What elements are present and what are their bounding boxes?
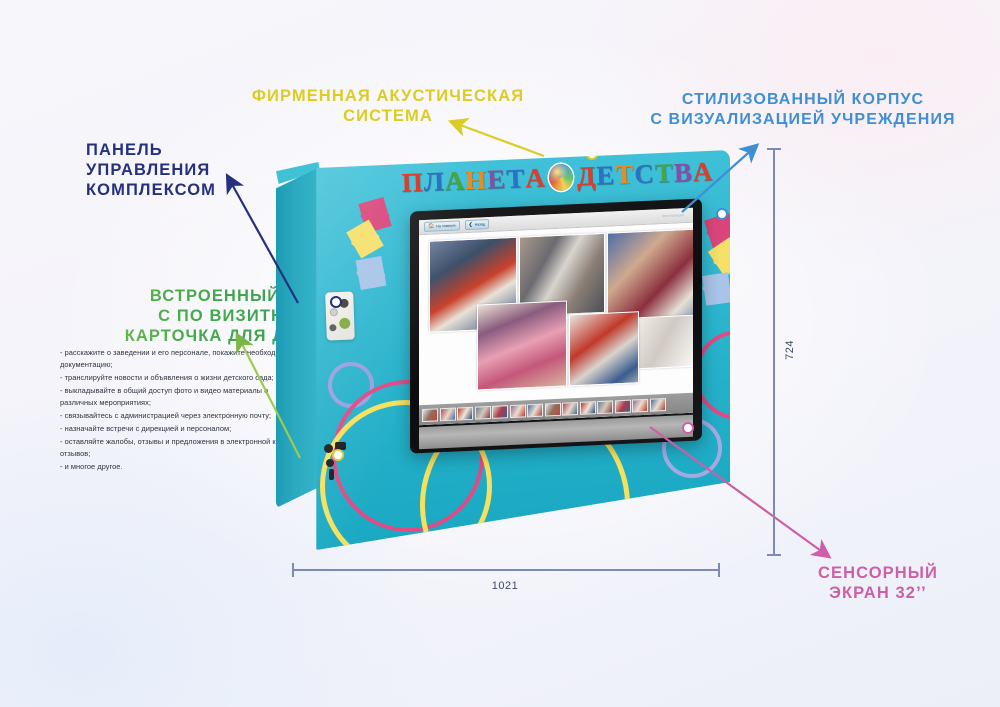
back-button[interactable]: ❮ Назад — [465, 219, 490, 230]
kiosk-illustration: 🏠 На главную ❮ Назад Фотогалерея — [270, 150, 740, 570]
decor-ring-yellow — [320, 400, 492, 550]
filmstrip-thumbnail[interactable] — [527, 403, 543, 417]
title-letter-detstva-6: А — [692, 158, 712, 186]
gallery-photo[interactable] — [429, 237, 517, 333]
back-button-label: Назад — [475, 222, 485, 226]
anchor-dot-pc — [332, 449, 344, 461]
filmstrip-thumbnail[interactable] — [457, 406, 473, 420]
chevron-left-icon: ❮ — [469, 222, 473, 227]
gallery-photo[interactable] — [519, 233, 605, 317]
globe-icon — [548, 163, 573, 191]
title-letter-detstva-3: С — [634, 160, 654, 188]
app-toolbar: 🏠 На главную ❮ Назад Фотогалерея — [419, 208, 693, 235]
control-knob-small[interactable] — [329, 324, 336, 331]
dimension-line-horizontal — [292, 569, 720, 571]
dimension-cap — [767, 554, 781, 556]
title-letter-detstva-4: Т — [654, 160, 673, 188]
dimension-cap — [718, 563, 720, 577]
dimension-label-width: 1021 — [460, 580, 550, 592]
dimension-label-height: 724 — [784, 340, 796, 360]
description-line: - транслируйте новости и объявления о жи… — [60, 372, 300, 384]
title-letter-planeta-2: А — [444, 167, 464, 195]
callout-label-touch-screen: СЕНСОРНЫЙ ЭКРАН 32’’ — [778, 563, 978, 603]
touch-screen-bezel: 🏠 На главную ❮ Назад Фотогалерея — [410, 198, 702, 453]
handprint-blue-left — [356, 256, 387, 290]
title-letter-planeta-0: П — [401, 169, 423, 197]
description-line: - связывайтесь с администрацией через эл… — [60, 410, 300, 422]
home-button-label: На главную — [436, 224, 455, 229]
decor-ring-pink-right — [694, 330, 730, 420]
filmstrip-thumbnail[interactable] — [615, 399, 631, 413]
handprint-yellow-right — [708, 237, 730, 276]
filmstrip-thumbnail[interactable] — [510, 404, 526, 418]
filmstrip-thumbnail[interactable] — [422, 408, 438, 422]
anchor-dot-acoustic — [586, 150, 598, 160]
filmstrip-thumbnail[interactable] — [562, 402, 578, 416]
decor-ring-yellow-wide — [420, 400, 630, 550]
filmstrip-thumbnail[interactable] — [475, 405, 491, 419]
filmstrip-thumbnail[interactable] — [440, 407, 456, 421]
decor-ring-pink — [332, 380, 484, 532]
title-letter-planeta-5: Т — [506, 165, 525, 193]
filmstrip-thumbnail[interactable] — [632, 398, 648, 412]
lock-and-port-area[interactable] — [322, 442, 352, 482]
thumbnail-filmstrip[interactable] — [419, 393, 693, 425]
photo-gallery-grid[interactable] — [419, 223, 693, 425]
callout-label-stylized-body: СТИЛИЗОВАННЫЙ КОРПУС С ВИЗУАЛИЗАЦИЕЙ УЧР… — [608, 90, 998, 129]
title-letter-detstva-0: Д — [576, 163, 596, 191]
feature-description-list: - расскажите о заведении и его персонале… — [60, 347, 300, 474]
screen-stand-base — [419, 415, 693, 449]
title-letter-planeta-1: Л — [423, 168, 444, 196]
home-button[interactable]: 🏠 На главную — [424, 220, 460, 232]
anchor-dot-touch — [682, 422, 694, 434]
decor-ring-violet — [328, 362, 374, 408]
gallery-photo[interactable] — [635, 314, 693, 369]
kiosk-front-panel: 🏠 На главную ❮ Назад Фотогалерея — [310, 150, 730, 550]
handprint-yellow-left — [346, 220, 384, 259]
handprint-pink-left — [358, 197, 391, 233]
description-line: - и многое другое. — [60, 461, 300, 473]
filmstrip-thumbnail[interactable] — [597, 400, 613, 414]
touch-screen-display[interactable]: 🏠 На главную ❮ Назад Фотогалерея — [419, 208, 693, 425]
app-title: Фотогалерея — [662, 213, 688, 218]
title-letter-detstva-5: В — [673, 159, 692, 187]
callout-label-acoustic-system: ФИРМЕННАЯ АКУСТИЧЕСКАЯ СИСТЕМА — [248, 86, 528, 126]
description-line: - выкладывайте в общий доступ фото и вид… — [60, 385, 300, 409]
description-line: - расскажите о заведении и его персонале… — [60, 347, 300, 371]
kiosk-title-planeta-detstva: ПЛАНЕТАДЕТСТВА — [382, 158, 730, 198]
key-icon[interactable] — [329, 469, 334, 480]
dimension-line-vertical — [773, 148, 775, 556]
filmstrip-thumbnail[interactable] — [492, 405, 508, 419]
anchor-dot-body — [716, 208, 728, 220]
description-line: - оставляйте жалобы, отзывы и предложени… — [60, 436, 300, 460]
title-letter-planeta-6: А — [525, 164, 545, 192]
control-knob-green[interactable] — [339, 318, 350, 329]
infographic-canvas: ФИРМЕННАЯ АКУСТИЧЕСКАЯ СИСТЕМА СТИЛИЗОВА… — [0, 0, 1000, 707]
filmstrip-thumbnail[interactable] — [545, 402, 561, 416]
title-letter-planeta-3: Н — [465, 167, 487, 195]
anchor-dot-control — [330, 296, 342, 308]
kiosk-side-panel — [276, 168, 318, 508]
gallery-photo[interactable] — [477, 301, 567, 391]
title-letter-detstva-1: Е — [596, 162, 615, 190]
dimension-cap — [767, 148, 781, 150]
filmstrip-thumbnail[interactable] — [580, 401, 596, 415]
keyhole-icon[interactable] — [326, 459, 334, 467]
filmstrip-thumbnail[interactable] — [650, 398, 666, 412]
home-icon: 🏠 — [428, 224, 434, 229]
control-knob-light[interactable] — [330, 308, 338, 316]
description-line: - назначайте встречи с дирекцией и персо… — [60, 423, 300, 435]
gallery-photo[interactable] — [569, 311, 639, 386]
dimension-cap — [292, 563, 294, 577]
handprint-blue-right — [702, 272, 730, 305]
gallery-photo[interactable] — [607, 228, 693, 342]
title-letter-planeta-4: Е — [487, 166, 506, 194]
title-letter-detstva-2: Т — [615, 161, 634, 189]
